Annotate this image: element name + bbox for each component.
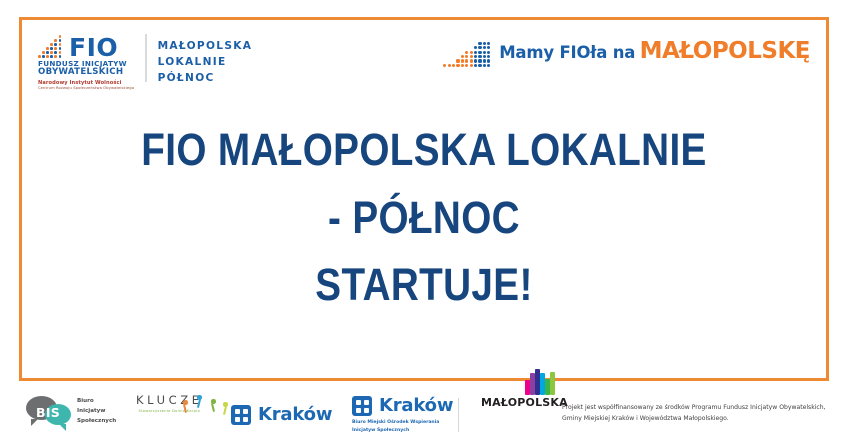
fio-logo-left: FIO FUNDUSZ INICJATYW OBYWATELSKICH Naro… xyxy=(38,32,134,91)
fio-subtitle: FUNDUSZ INICJATYW OBYWATELSKICH xyxy=(38,60,127,78)
fio-subtitle-line2: OBYWATELSKICH xyxy=(38,68,127,78)
bis-logo: BIS Biuro Inicjatyw Społecznych xyxy=(26,392,116,432)
headline-line-1: FIO MAŁOPOLSKA LOKALNIE xyxy=(78,116,769,184)
campaign-line1-prefix: Mamy xyxy=(499,43,559,62)
klucze-wordmark: KLUCZE xyxy=(136,395,203,407)
campaign-dot-matrix-icon xyxy=(443,31,495,71)
krakow-mowis-logo: Kraków Biuro Miejski Ośrodek Wspierania … xyxy=(352,396,453,436)
fio-institute-line2: Centrum Rozwoju Społeczeństwa Obywatelsk… xyxy=(38,86,134,91)
footer-divider xyxy=(458,398,459,432)
campaign-logo-line1: Mamy FIOła na xyxy=(499,43,635,62)
bis-logo-text: Biuro Inicjatyw Społecznych xyxy=(77,397,116,426)
campaign-line1-suffix: ła na xyxy=(590,43,635,62)
bis-text-line1: Biuro xyxy=(77,397,116,407)
krakow-wordmark: Kraków xyxy=(258,406,332,424)
klucze-subtitle: Stowarzyszenie Dolina Karpia xyxy=(136,409,203,413)
krakow-crest-icon xyxy=(231,405,251,425)
krakow-logo: Kraków xyxy=(231,405,332,425)
headline-line-3: STARTUJE! xyxy=(78,251,769,319)
bis-text-line2: Inicjatyw xyxy=(77,407,116,417)
funding-note-line1: Projekt jest współfinansowany ze środków… xyxy=(562,402,842,413)
poster-panel: FIO FUNDUSZ INICJATYW OBYWATELSKICH Naro… xyxy=(19,17,829,381)
header-band: FIO FUNDUSZ INICJATYW OBYWATELSKICH Naro… xyxy=(22,20,826,98)
fio-institute-line1: Narodowy Instytut Wolności xyxy=(38,80,121,86)
fio-logo-top-row: FIO xyxy=(38,32,118,58)
krakow-mowis-subtitle: Biuro Miejski Ośrodek Wspierania Inicjat… xyxy=(352,419,453,436)
bis-speech-bubble-icon: BIS xyxy=(26,392,73,432)
funding-note: Projekt jest współfinansowany ze środków… xyxy=(562,402,842,425)
fio-program-line3: PÓŁNOC xyxy=(158,70,253,86)
krakow-mowis-wordmark: Kraków xyxy=(379,397,453,415)
campaign-logo-line2: MAŁOPOLSKĘ xyxy=(640,38,810,64)
krakow-mowis-subtitle-line1: Biuro Miejski Ośrodek Wspierania xyxy=(352,419,453,427)
bis-mark-text: BIS xyxy=(36,405,60,420)
fio-institute: Narodowy Instytut Wolności Centrum Rozwo… xyxy=(38,80,134,91)
campaign-line1-highlight: FIO xyxy=(559,43,590,62)
campaign-logo: Mamy FIOła na MAŁOPOLSKĘ xyxy=(443,31,810,71)
krakow-mowis-crest-icon xyxy=(352,396,372,416)
fio-program-line2: LOKALNIE xyxy=(158,54,253,70)
funding-note-line2: Gminy Miejskiej Kraków i Województwa Mał… xyxy=(562,413,842,424)
krakow-mowis-top: Kraków xyxy=(352,396,453,416)
fio-program-line1: MAŁOPOLSKA xyxy=(158,38,253,54)
fio-logo-divider xyxy=(145,34,147,82)
klucze-logo: KLUCZE Stowarzyszenie Dolina Karpia xyxy=(136,394,203,413)
krakow-mowis-subtitle-line2: Inicjatyw Społecznych xyxy=(352,427,453,435)
malopolska-wordmark: MAŁOPOLSKA xyxy=(481,397,568,408)
fio-program-name: MAŁOPOLSKA LOKALNIE PÓŁNOC xyxy=(158,38,253,86)
fio-logo: FIO FUNDUSZ INICJATYW OBYWATELSKICH Naro… xyxy=(38,32,252,91)
fio-wordmark: FIO xyxy=(69,37,118,58)
fio-dot-matrix-icon xyxy=(38,32,64,58)
malopolska-logo: MAŁOPOLSKA xyxy=(481,395,568,408)
bis-text-line3: Społecznych xyxy=(77,417,116,427)
campaign-logo-text: Mamy FIOła na MAŁOPOLSKĘ xyxy=(499,40,810,63)
footer-logo-strip: BIS Biuro Inicjatyw Społecznych KLUCZE S… xyxy=(0,388,850,444)
headline-line-2: - PÓŁNOC xyxy=(78,184,769,252)
poster-headline: FIO MAŁOPOLSKA LOKALNIE - PÓŁNOC STARTUJ… xyxy=(78,116,769,319)
